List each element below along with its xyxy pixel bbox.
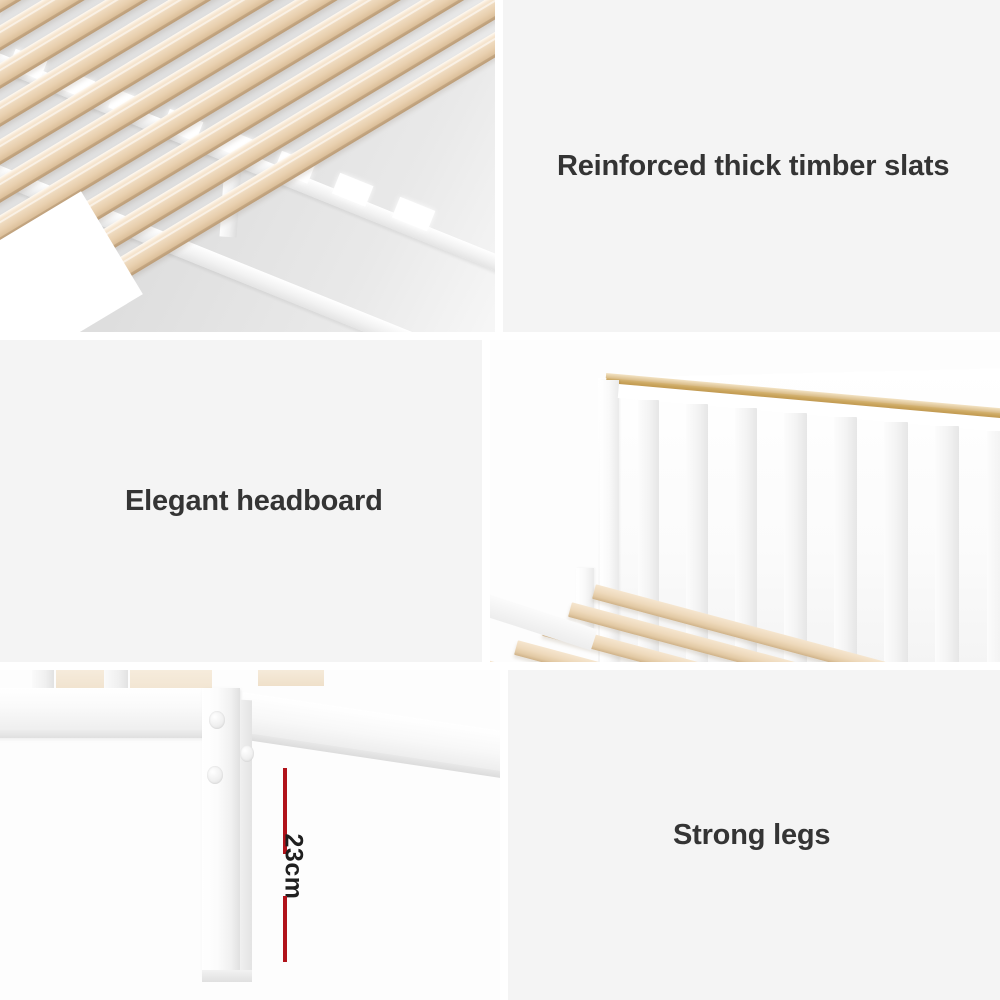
headboard-spindle (884, 422, 908, 662)
feature-label-headboard: Elegant headboard (125, 484, 383, 519)
dowel-plug (240, 745, 254, 762)
headboard-spindle (987, 431, 1000, 662)
headboard-spindle (935, 426, 959, 662)
panel-legs-photo: 23cm (0, 670, 500, 1000)
panel-timber-slats-photo (0, 0, 495, 332)
dimension-label-23cm: 23cm (279, 827, 308, 907)
headboard-spindle (834, 417, 857, 662)
product-feature-infographic: Reinforced thick timber slats Elegant he… (0, 0, 1000, 1000)
legs-illustration: 23cm (0, 670, 500, 1000)
dowel-plug (207, 766, 223, 784)
headboard-illustration (490, 340, 1000, 662)
bed-leg-foot (202, 970, 252, 982)
feature-label-legs: Strong legs (673, 818, 830, 853)
headboard-spindle (784, 413, 807, 662)
inner-timber-slat (258, 670, 324, 686)
panel-headboard-caption: Elegant headboard (0, 340, 482, 662)
bed-leg (202, 688, 240, 978)
panel-legs-caption: Strong legs (508, 670, 1000, 1000)
dimension-line-lower (283, 896, 287, 962)
bed-leg-side-face (240, 700, 252, 973)
dowel-plug (209, 711, 225, 729)
panel-headboard-photo (490, 340, 1000, 662)
timber-slats-illustration (0, 0, 495, 332)
feature-label-timber-slats: Reinforced thick timber slats (557, 149, 949, 184)
panel-timber-slats-caption: Reinforced thick timber slats (503, 0, 1000, 332)
